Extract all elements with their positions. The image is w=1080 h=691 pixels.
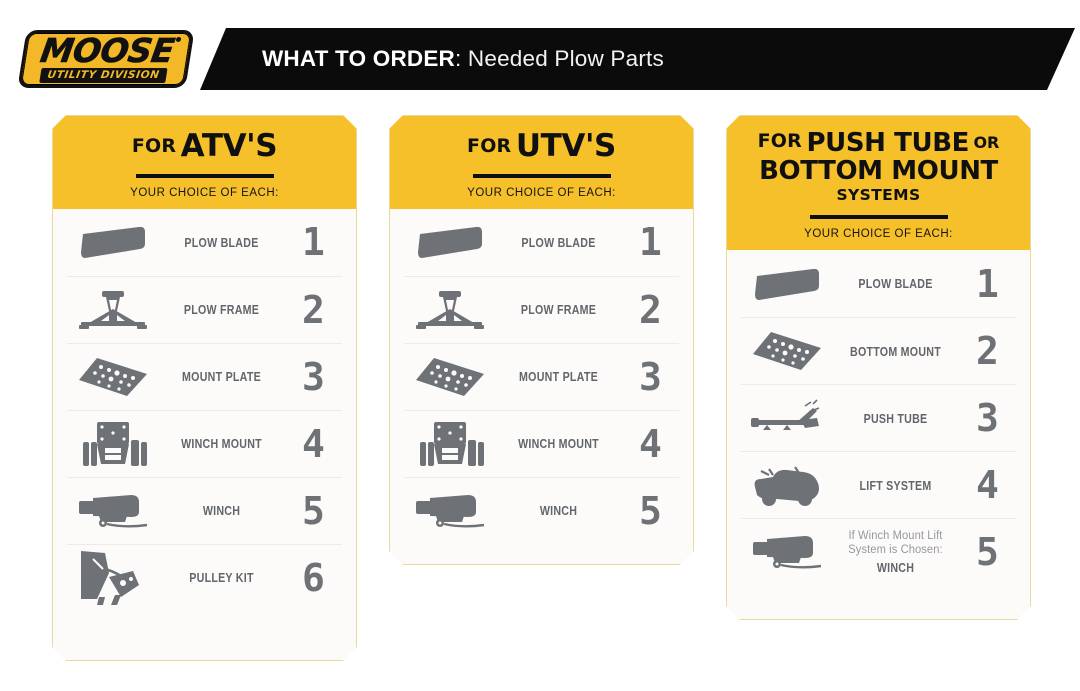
plow-frame-icon (67, 287, 159, 333)
list-item[interactable]: WINCH MOUNT 4 (67, 410, 342, 477)
card-push-title-line1: FOR PUSH TUBE OR (739, 130, 1018, 158)
list-item-number: 3 (284, 358, 342, 396)
push-tube-icon (741, 398, 833, 438)
list-item-label: If Winch Mount Lift System is Chosen: WI… (844, 529, 947, 576)
card-atv-body: PLOW BLADE 1 PLOW FRAME 2 MOUNT PLATE 3 (53, 209, 356, 611)
list-item-label-text: WINCH (844, 560, 947, 575)
list-item-number: 4 (621, 425, 679, 463)
list-item[interactable]: WINCH MOUNT 4 (404, 410, 679, 477)
plow-blade-icon (741, 264, 833, 304)
list-item[interactable]: BOTTOM MOUNT 2 (741, 317, 1016, 384)
list-item-label: PLOW FRAME (170, 302, 273, 317)
header-banner: WHAT TO ORDER: Needed Plow Parts (200, 28, 1075, 90)
list-item-label: MOUNT PLATE (507, 369, 610, 384)
list-item-note: If Winch Mount Lift System is Chosen: (835, 529, 956, 558)
card-push-title-line2: BOTTOM MOUNT (739, 158, 1018, 186)
logo-tagline: UTILITY DIVISION (39, 68, 167, 83)
cards-container: FOR ATV'S YOUR CHOICE OF EACH: PLOW BLAD… (0, 102, 1080, 691)
list-item[interactable]: PLOW FRAME 2 (67, 276, 342, 343)
list-item[interactable]: PLOW BLADE 1 (67, 209, 342, 276)
card-atv-title: FOR ATV'S (65, 130, 344, 163)
list-item[interactable]: LIFT SYSTEM 4 (741, 451, 1016, 518)
list-item-number: 3 (621, 358, 679, 396)
list-item-label: PLOW BLADE (507, 235, 610, 250)
list-item-number: 6 (284, 559, 342, 597)
list-item-number: 4 (958, 466, 1016, 504)
list-item-label: WINCH (507, 503, 610, 518)
lift-system-icon (741, 461, 833, 509)
header-title-bold: WHAT TO ORDER (262, 46, 455, 71)
list-item[interactable]: PLOW BLADE 1 (404, 209, 679, 276)
list-item[interactable]: MOUNT PLATE 3 (404, 343, 679, 410)
card-push-title-line2-text: BOTTOM MOUNT (759, 156, 998, 186)
card-utv: FOR UTV'S YOUR CHOICE OF EACH: PLOW BLAD… (389, 115, 694, 565)
list-item-label: BOTTOM MOUNT (844, 344, 947, 359)
card-utv-title-main: UTV'S (516, 128, 616, 164)
winch-icon (67, 490, 159, 532)
card-atv: FOR ATV'S YOUR CHOICE OF EACH: PLOW BLAD… (52, 115, 357, 661)
mount-plate-icon (404, 354, 496, 400)
card-utv-choice-label: YOUR CHOICE OF EACH: (402, 187, 681, 199)
list-item-label: PULLEY KIT (170, 570, 273, 585)
list-item-number: 1 (621, 223, 679, 261)
list-item-label: WINCH MOUNT (507, 436, 610, 451)
list-item-label: WINCH MOUNT (170, 436, 273, 451)
card-push-choice-label: YOUR CHOICE OF EACH: (739, 228, 1018, 240)
winch-mount-icon (67, 418, 159, 470)
list-item-number: 5 (958, 533, 1016, 571)
card-push-title-for: FOR (758, 130, 802, 152)
moose-utility-division-logo: MOOSE UTILITY DIVISION (22, 30, 190, 88)
pulley-kit-icon (67, 547, 159, 609)
list-item-label: MOUNT PLATE (170, 369, 273, 384)
card-atv-divider-rule (136, 174, 274, 178)
card-utv-header: FOR UTV'S YOUR CHOICE OF EACH: (390, 116, 693, 209)
card-push-body: PLOW BLADE 1 BOTTOM MOUNT 2 PUSH TUBE 3 (727, 250, 1030, 585)
list-item-label: WINCH (170, 503, 273, 518)
winch-mount-icon (404, 418, 496, 470)
header-title-light: : Needed Plow Parts (455, 46, 664, 71)
list-item-number: 5 (284, 492, 342, 530)
list-item[interactable]: PULLEY KIT 6 (67, 544, 342, 611)
list-item-number: 5 (621, 492, 679, 530)
winch-icon (404, 490, 496, 532)
list-item-label: PUSH TUBE (844, 411, 947, 426)
winch-icon (741, 531, 833, 573)
page-header: MOOSE UTILITY DIVISION WHAT TO ORDER: Ne… (0, 0, 1080, 102)
card-utv-divider-rule (473, 174, 611, 178)
list-item-number: 1 (284, 223, 342, 261)
list-item[interactable]: WINCH 5 (67, 477, 342, 544)
card-push-header: FOR PUSH TUBE OR BOTTOM MOUNT SYSTEMS YO… (727, 116, 1030, 250)
plow-blade-icon (404, 222, 496, 262)
logo-inner: MOOSE UTILITY DIVISION (17, 30, 194, 88)
card-push-tube-bottom-mount: FOR PUSH TUBE OR BOTTOM MOUNT SYSTEMS YO… (726, 115, 1031, 620)
plow-blade-icon (67, 222, 159, 262)
infographic-page: MOOSE UTILITY DIVISION WHAT TO ORDER: Ne… (0, 0, 1080, 691)
card-push-divider-rule (810, 215, 948, 219)
list-item[interactable]: PLOW FRAME 2 (404, 276, 679, 343)
list-item-number: 4 (284, 425, 342, 463)
list-item-label: PLOW FRAME (507, 302, 610, 317)
list-item-number: 2 (621, 291, 679, 329)
card-push-title-systems: SYSTEMS (739, 186, 1018, 204)
card-atv-title-main: ATV'S (181, 128, 278, 164)
list-item[interactable]: PUSH TUBE 3 (741, 384, 1016, 451)
header-title: WHAT TO ORDER: Needed Plow Parts (262, 46, 664, 72)
list-item-number: 1 (958, 265, 1016, 303)
card-utv-body: PLOW BLADE 1 PLOW FRAME 2 MOUNT PLATE 3 (390, 209, 693, 544)
card-atv-title-for: FOR (132, 135, 176, 157)
list-item-label: LIFT SYSTEM (844, 478, 947, 493)
card-push-title-main: PUSH TUBE (806, 128, 969, 158)
list-item[interactable]: MOUNT PLATE 3 (67, 343, 342, 410)
card-utv-title-for: FOR (467, 135, 511, 157)
plow-frame-icon (404, 287, 496, 333)
card-utv-title: FOR UTV'S (402, 130, 681, 163)
list-item-label: PLOW BLADE (170, 235, 273, 250)
list-item-number: 2 (284, 291, 342, 329)
mount-plate-icon (67, 354, 159, 400)
list-item[interactable]: If Winch Mount Lift System is Chosen: WI… (741, 518, 1016, 585)
list-item[interactable]: WINCH 5 (404, 477, 679, 544)
list-item-number: 3 (958, 399, 1016, 437)
list-item[interactable]: PLOW BLADE 1 (741, 250, 1016, 317)
card-push-title-or: OR (973, 133, 999, 152)
list-item-number: 2 (958, 332, 1016, 370)
card-atv-choice-label: YOUR CHOICE OF EACH: (65, 187, 344, 199)
bottom-mount-icon (741, 328, 833, 374)
logo-wordmark: MOOSE (38, 35, 176, 66)
card-atv-header: FOR ATV'S YOUR CHOICE OF EACH: (53, 116, 356, 209)
list-item-label: PLOW BLADE (844, 276, 947, 291)
